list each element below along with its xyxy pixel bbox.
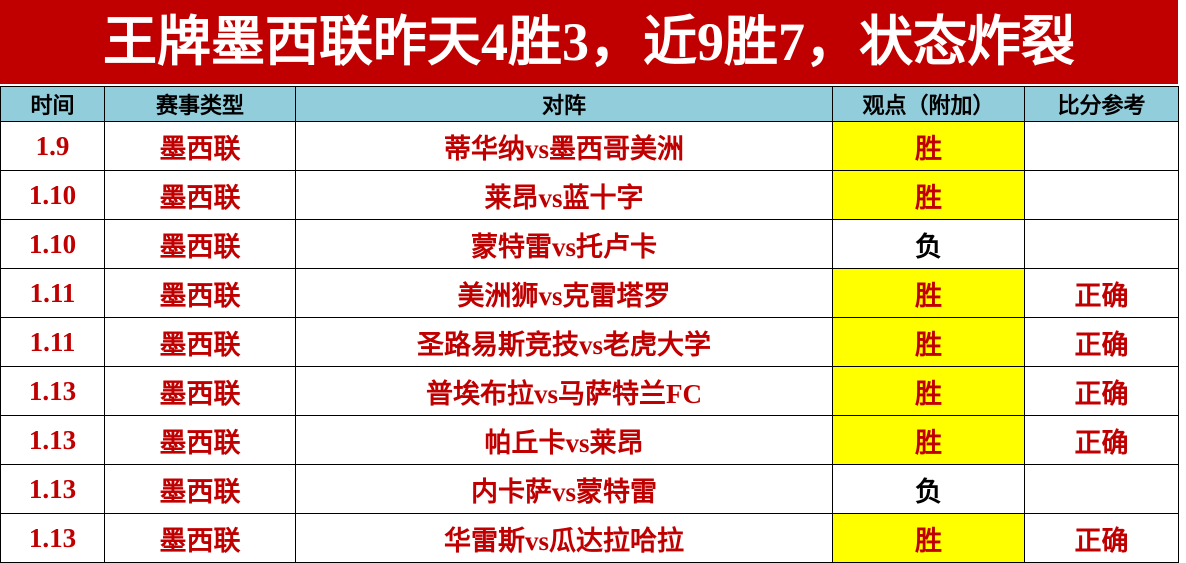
table-header-row: 时间 赛事类型 对阵 观点（附加） 比分参考 xyxy=(1,87,1179,122)
table-row: 1.13墨西联帕丘卡vs莱昂胜正确 xyxy=(1,416,1179,465)
column-header-match: 对阵 xyxy=(296,87,833,122)
cell-type: 墨西联 xyxy=(105,514,296,563)
cell-type: 墨西联 xyxy=(105,367,296,416)
cell-opinion: 胜 xyxy=(833,416,1025,465)
table-row: 1.11墨西联圣路易斯竞技vs老虎大学胜正确 xyxy=(1,318,1179,367)
cell-match: 美洲狮vs克雷塔罗 xyxy=(296,269,833,318)
cell-time: 1.11 xyxy=(1,318,105,367)
cell-opinion: 胜 xyxy=(833,367,1025,416)
cell-score-reference: 正确 xyxy=(1025,416,1179,465)
banner-header: 王牌墨西联昨天4胜3，近9胜7，状态炸裂 xyxy=(0,0,1178,84)
table-row: 1.11墨西联美洲狮vs克雷塔罗胜正确 xyxy=(1,269,1179,318)
cell-score-reference: 正确 xyxy=(1025,514,1179,563)
cell-opinion: 负 xyxy=(833,465,1025,514)
cell-opinion: 负 xyxy=(833,220,1025,269)
cell-match: 华雷斯vs瓜达拉哈拉 xyxy=(296,514,833,563)
table-header: 时间 赛事类型 对阵 观点（附加） 比分参考 xyxy=(1,87,1179,122)
cell-score-reference xyxy=(1025,122,1179,171)
cell-opinion: 胜 xyxy=(833,171,1025,220)
cell-type: 墨西联 xyxy=(105,465,296,514)
table-row: 1.10墨西联蒙特雷vs托卢卡负 xyxy=(1,220,1179,269)
cell-type: 墨西联 xyxy=(105,122,296,171)
cell-score-reference: 正确 xyxy=(1025,269,1179,318)
cell-score-reference xyxy=(1025,171,1179,220)
cell-score-reference: 正确 xyxy=(1025,318,1179,367)
cell-opinion: 胜 xyxy=(833,269,1025,318)
table-row: 1.10墨西联莱昂vs蓝十字胜 xyxy=(1,171,1179,220)
column-header-view: 观点（附加） xyxy=(833,87,1025,122)
cell-type: 墨西联 xyxy=(105,269,296,318)
table-row: 1.9墨西联蒂华纳vs墨西哥美洲胜 xyxy=(1,122,1179,171)
table-row: 1.13墨西联华雷斯vs瓜达拉哈拉胜正确 xyxy=(1,514,1179,563)
column-header-time: 时间 xyxy=(1,87,105,122)
cell-type: 墨西联 xyxy=(105,171,296,220)
cell-match: 帕丘卡vs莱昂 xyxy=(296,416,833,465)
cell-match: 蒂华纳vs墨西哥美洲 xyxy=(296,122,833,171)
cell-time: 1.10 xyxy=(1,220,105,269)
table-row: 1.13墨西联内卡萨vs蒙特雷负 xyxy=(1,465,1179,514)
cell-time: 1.10 xyxy=(1,171,105,220)
column-header-score: 比分参考 xyxy=(1025,87,1179,122)
cell-type: 墨西联 xyxy=(105,220,296,269)
cell-match: 内卡萨vs蒙特雷 xyxy=(296,465,833,514)
cell-time: 1.13 xyxy=(1,465,105,514)
cell-opinion: 胜 xyxy=(833,318,1025,367)
cell-opinion: 胜 xyxy=(833,122,1025,171)
cell-match: 普埃布拉vs马萨特兰FC xyxy=(296,367,833,416)
cell-score-reference xyxy=(1025,465,1179,514)
cell-time: 1.13 xyxy=(1,416,105,465)
banner-title: 王牌墨西联昨天4胜3，近9胜7，状态炸裂 xyxy=(103,15,1075,69)
predictions-table: 时间 赛事类型 对阵 观点（附加） 比分参考 1.9墨西联蒂华纳vs墨西哥美洲胜… xyxy=(0,86,1179,563)
column-header-type: 赛事类型 xyxy=(105,87,296,122)
table-row: 1.13墨西联普埃布拉vs马萨特兰FC胜正确 xyxy=(1,367,1179,416)
cell-opinion: 胜 xyxy=(833,514,1025,563)
prediction-sheet-page: 王牌墨西联昨天4胜3，近9胜7，状态炸裂 时间 赛事类型 对阵 观点（附加） 比… xyxy=(0,0,1186,562)
table-body: 1.9墨西联蒂华纳vs墨西哥美洲胜1.10墨西联莱昂vs蓝十字胜1.10墨西联蒙… xyxy=(1,122,1179,563)
cell-time: 1.11 xyxy=(1,269,105,318)
cell-score-reference: 正确 xyxy=(1025,367,1179,416)
cell-match: 蒙特雷vs托卢卡 xyxy=(296,220,833,269)
cell-score-reference xyxy=(1025,220,1179,269)
cell-type: 墨西联 xyxy=(105,416,296,465)
cell-time: 1.13 xyxy=(1,514,105,563)
cell-time: 1.9 xyxy=(1,122,105,171)
cell-match: 圣路易斯竞技vs老虎大学 xyxy=(296,318,833,367)
cell-time: 1.13 xyxy=(1,367,105,416)
cell-match: 莱昂vs蓝十字 xyxy=(296,171,833,220)
cell-type: 墨西联 xyxy=(105,318,296,367)
